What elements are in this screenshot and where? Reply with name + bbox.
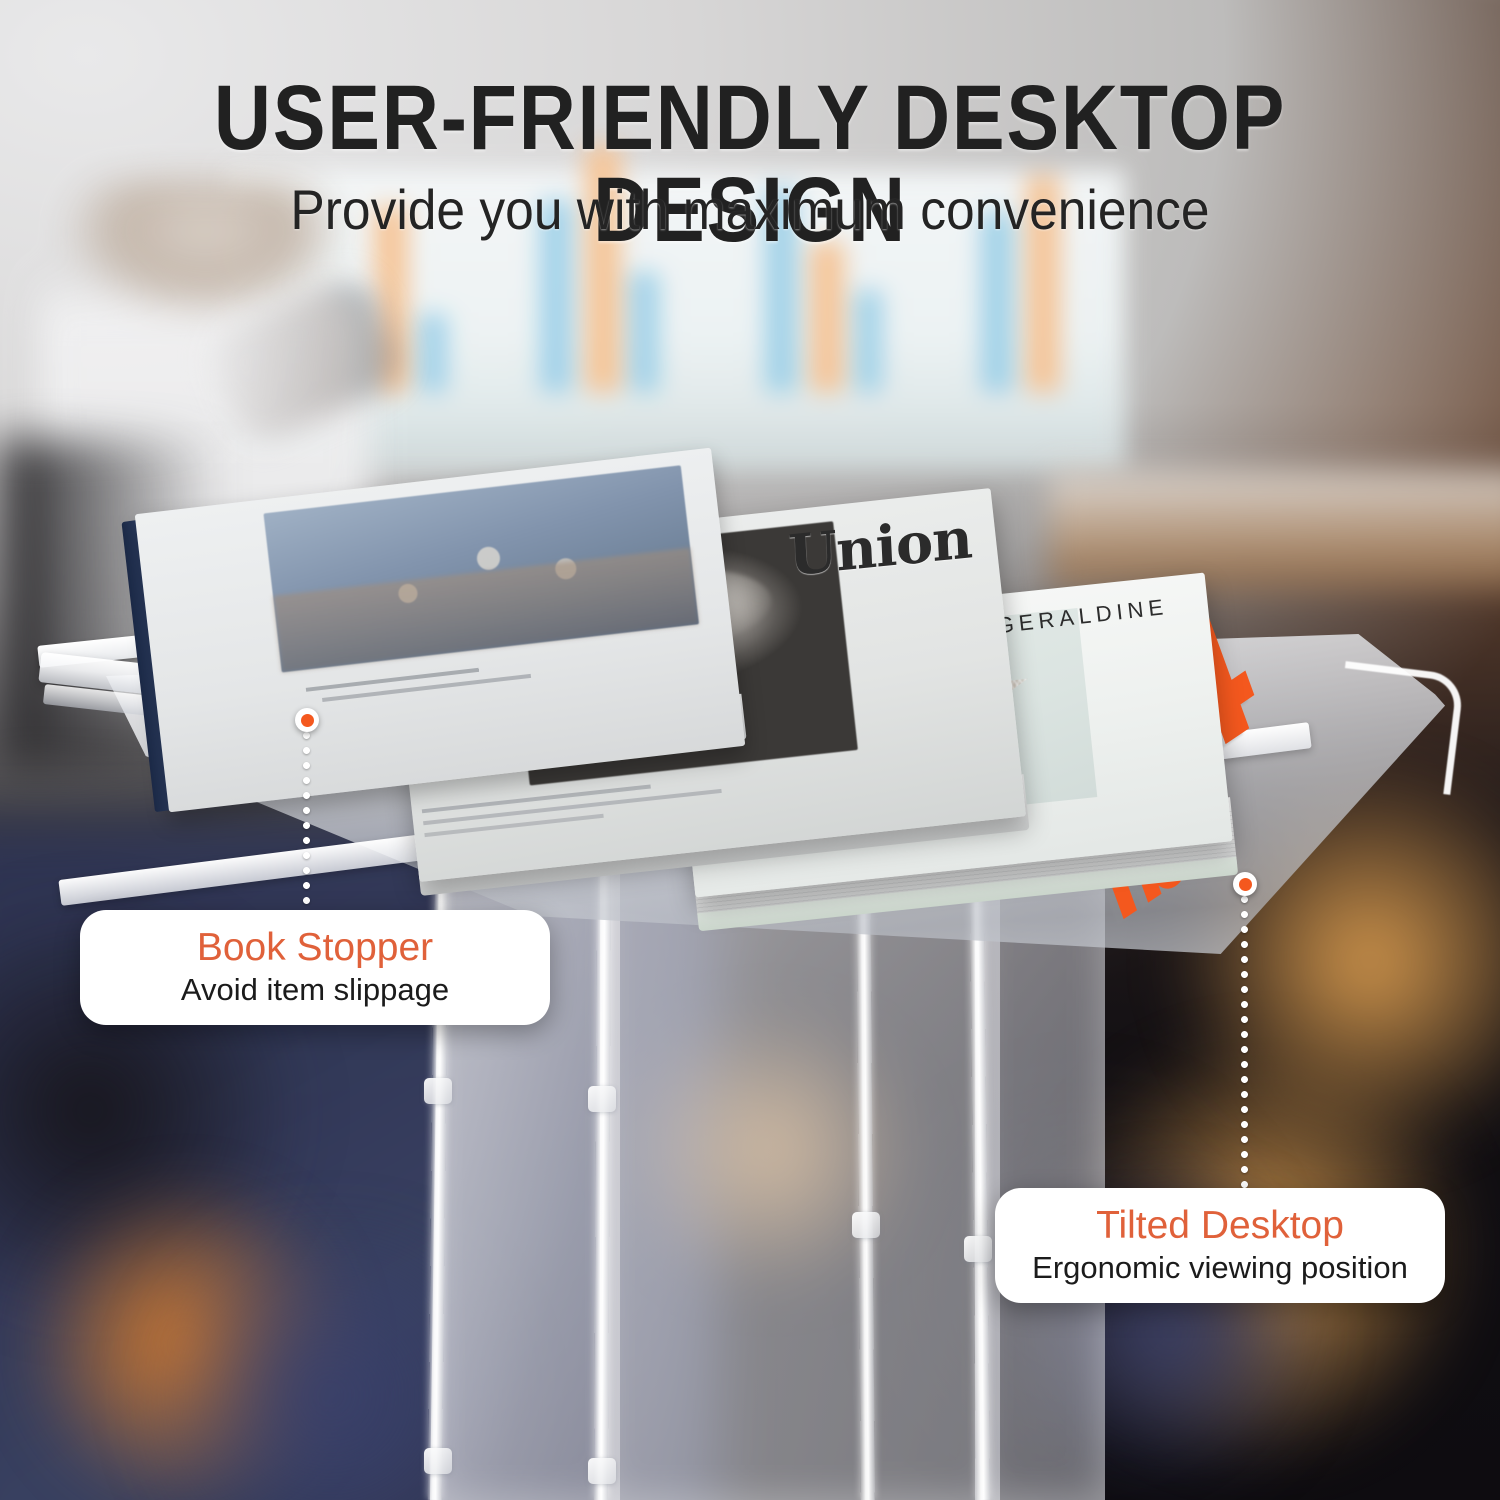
panel-connector xyxy=(588,1458,616,1484)
book-title: Union xyxy=(787,505,973,589)
photo-foreground xyxy=(273,548,699,673)
callout-marker-tilted-desktop xyxy=(1233,872,1257,896)
panel-connector xyxy=(852,1212,880,1238)
board-rounded-corner xyxy=(1331,661,1465,795)
callout-subtitle: Ergonomic viewing position xyxy=(1025,1250,1415,1286)
callout-book-stopper: Book Stopper Avoid item slippage xyxy=(80,910,550,1025)
book-title: GERALDINE xyxy=(995,594,1169,639)
callout-tilted-desktop: Tilted Desktop Ergonomic viewing positio… xyxy=(995,1188,1445,1303)
page-subtitle: Provide you with maximum convenience xyxy=(60,182,1440,238)
callout-marker-book-stopper xyxy=(295,708,319,732)
panel-connector xyxy=(424,1078,452,1104)
panel-connector xyxy=(424,1448,452,1474)
callout-leader-line xyxy=(302,728,311,910)
callout-leader-line xyxy=(1240,892,1249,1192)
book-cover-photo xyxy=(263,465,699,672)
panel-connector xyxy=(964,1236,992,1262)
callout-title: Tilted Desktop xyxy=(1025,1204,1415,1248)
product-marketing-image: 44 lbs 44 lbs GERALDINE muuto xyxy=(0,0,1500,1500)
callout-title: Book Stopper xyxy=(110,926,520,970)
callout-subtitle: Avoid item slippage xyxy=(110,972,520,1008)
panel-connector xyxy=(588,1086,616,1112)
